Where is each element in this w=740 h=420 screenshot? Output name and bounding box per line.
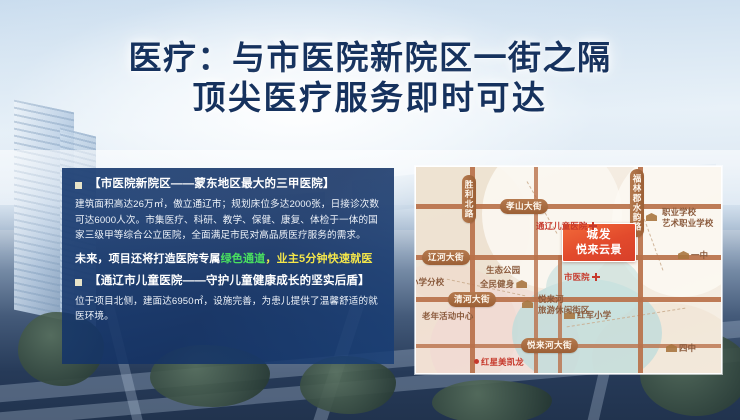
block-1-heading: 【市医院新院区——蒙东地区最大的三甲医院】	[89, 177, 335, 192]
school-building-icon-3	[666, 344, 677, 352]
school-building-icon-2	[678, 251, 689, 259]
map-street-xiaoshan-dajie[interactable]: 孝山大街	[500, 199, 548, 214]
hospital-cross-icon-2	[592, 273, 600, 281]
poi-label: 通辽儿童医院	[536, 221, 587, 231]
subject-line-2: 悦来云景	[576, 243, 622, 258]
poi-label: 全民健身	[480, 279, 514, 289]
highlight-line: 未来，项目还将打造医院专属绿色通道，业主5分钟快速就医	[75, 250, 381, 269]
slide-root: 医疗：与市医院新院区一街之隔 顶尖医疗服务即时可达 【市医院新院区——蒙东地区最…	[0, 0, 740, 420]
map-street-yuelaihe-dajie[interactable]: 悦来河大街	[521, 338, 578, 353]
poi-label: 一中	[691, 250, 708, 260]
block-2-heading-row: 【通辽市儿童医院——守护儿童健康成长的坚实后盾】	[75, 274, 381, 289]
map-street-qinghe-dajie[interactable]: 清河大街	[448, 292, 496, 307]
map-poi-yuelai-river[interactable]: 悦来河 旅游休闲街区	[538, 294, 589, 315]
poi-label-art-vocational: 艺术职业学校	[662, 218, 713, 229]
map-poi-redstar-macalline[interactable]: 红星美凯龙	[474, 357, 524, 368]
block-1-heading-row: 【市医院新院区——蒙东地区最大的三甲医院】	[75, 177, 381, 192]
poi-label: 市医院	[564, 272, 590, 282]
map-poi-vocational-schools[interactable]: 职业学校 艺术职业学校	[662, 207, 713, 228]
highlight-yellow: 业主5分钟快速就医	[277, 253, 373, 265]
poi-label-tourist-block: 旅游休闲街区	[538, 305, 589, 316]
map-poi-no1-middle-school[interactable]: 一中	[678, 250, 708, 261]
map-poi-senior-center[interactable]: 老年活动中心	[422, 311, 473, 322]
block-2-heading: 【通辽市儿童医院——守护儿童健康成长的坚实后盾】	[89, 274, 370, 289]
map-street-liaohe-dajie[interactable]: 辽河大街	[422, 250, 470, 265]
fitness-icon	[516, 280, 527, 288]
map-poi-fitness[interactable]: 全民健身	[480, 279, 527, 290]
location-map[interactable]: 胜利北路 孝山大街 辽河大街 清河大街 悦来河大街 福林郡水韵路 城发 悦来云景…	[415, 166, 722, 374]
highlight-green: 绿色通道	[221, 253, 266, 265]
tree-cluster-3	[300, 356, 396, 414]
map-poi-eco-park[interactable]: 生态公园	[486, 265, 520, 276]
poi-label-vocational: 职业学校	[662, 207, 713, 218]
title-line-1: 医疗：与市医院新院区一街之隔	[0, 38, 740, 78]
map-poi-city-hospital[interactable]: 市医院	[564, 272, 600, 283]
square-bullet-icon	[75, 182, 82, 189]
map-poi-primary-branch[interactable]: 小学分校	[415, 277, 444, 288]
tree-cluster-4	[432, 380, 552, 420]
info-panel: 【市医院新院区——蒙东地区最大的三甲医院】 建筑面积高达26万㎡，傲立通辽市；规…	[62, 168, 394, 364]
poi-label: 小学分校	[415, 277, 444, 287]
square-bullet-icon-2	[75, 279, 82, 286]
poi-label: 四中	[679, 343, 696, 353]
map-poi-no4-middle-school[interactable]: 四中	[666, 343, 696, 354]
hospital-cross-icon	[589, 222, 597, 230]
map-street-shengli-beilu[interactable]: 胜利北路	[462, 175, 476, 223]
highlight-part-1: 未来，项目还将打造医院专属	[75, 253, 221, 265]
block-1-body: 建筑面积高达26万㎡，傲立通辽市；规划床位多达2000张，日接诊次数可达6000…	[75, 197, 381, 244]
map-poi-childrens-hospital[interactable]: 通辽儿童医院	[536, 221, 597, 232]
poi-label: 红星美凯龙	[481, 357, 524, 367]
title-line-2: 顶尖医疗服务即时可达	[0, 78, 740, 118]
block-2-body: 位于项目北侧，建面达6950㎡，设施完善，为患儿提供了温馨舒适的就医环境。	[75, 294, 381, 325]
poi-label-river: 悦来河	[538, 294, 589, 305]
poi-dot-icon	[474, 359, 479, 364]
highlight-comma: ，	[265, 253, 276, 265]
page-title: 医疗：与市医院新院区一街之隔 顶尖医疗服务即时可达	[0, 38, 740, 118]
